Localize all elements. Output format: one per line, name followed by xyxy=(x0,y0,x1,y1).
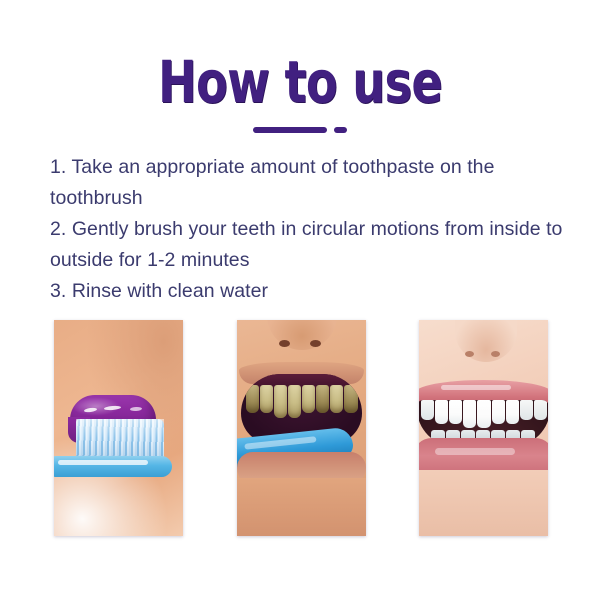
toothbrush-handle xyxy=(54,456,172,477)
instruction-step-3: 3. Rinse with clean water xyxy=(50,276,574,307)
paste-highlight xyxy=(130,407,142,412)
tooth xyxy=(421,400,434,420)
toothbrush-with-toothpaste-photo xyxy=(54,320,183,536)
tooth xyxy=(302,385,315,413)
tooth xyxy=(288,385,301,418)
nose xyxy=(267,320,337,350)
paste-highlight xyxy=(84,407,97,413)
chin xyxy=(419,470,548,536)
instruction-step-2: 2. Gently brush your teeth in circular m… xyxy=(50,214,574,276)
tooth xyxy=(463,400,476,428)
tooth xyxy=(344,385,357,413)
nostril-right xyxy=(310,340,321,347)
instruction-step-1: 1. Take an appropriate amount of toothpa… xyxy=(50,152,574,214)
stained-teeth-row xyxy=(246,385,358,419)
tooth xyxy=(477,400,490,428)
tooth xyxy=(274,385,287,418)
how-to-use-infographic: How to use 1. Take an appropriate amount… xyxy=(0,0,600,600)
tooth xyxy=(534,400,547,420)
nose xyxy=(455,320,517,362)
tooth xyxy=(260,385,273,413)
white-teeth-row xyxy=(421,400,547,430)
nostril-left xyxy=(279,340,290,347)
tooth xyxy=(316,385,329,413)
toothbrush-bristles xyxy=(76,419,164,461)
tooth xyxy=(246,385,259,413)
page-title: How to use xyxy=(60,52,540,112)
nostril-right xyxy=(491,351,500,357)
chin xyxy=(237,478,366,536)
photo-strip xyxy=(54,320,548,536)
tooth xyxy=(492,400,505,424)
paste-highlight xyxy=(104,405,121,410)
tooth xyxy=(435,400,448,424)
tooth xyxy=(506,400,519,424)
nostril-left xyxy=(465,351,474,357)
divider-dash-long xyxy=(253,127,327,133)
tooth xyxy=(330,385,343,413)
tooth xyxy=(449,400,462,424)
title-divider xyxy=(0,127,600,133)
tooth xyxy=(520,400,533,420)
white-smile-result-photo xyxy=(419,320,548,536)
stained-teeth-brushing-photo xyxy=(237,320,366,536)
divider-dash-short xyxy=(334,127,347,133)
instruction-steps: 1. Take an appropriate amount of toothpa… xyxy=(50,152,574,307)
